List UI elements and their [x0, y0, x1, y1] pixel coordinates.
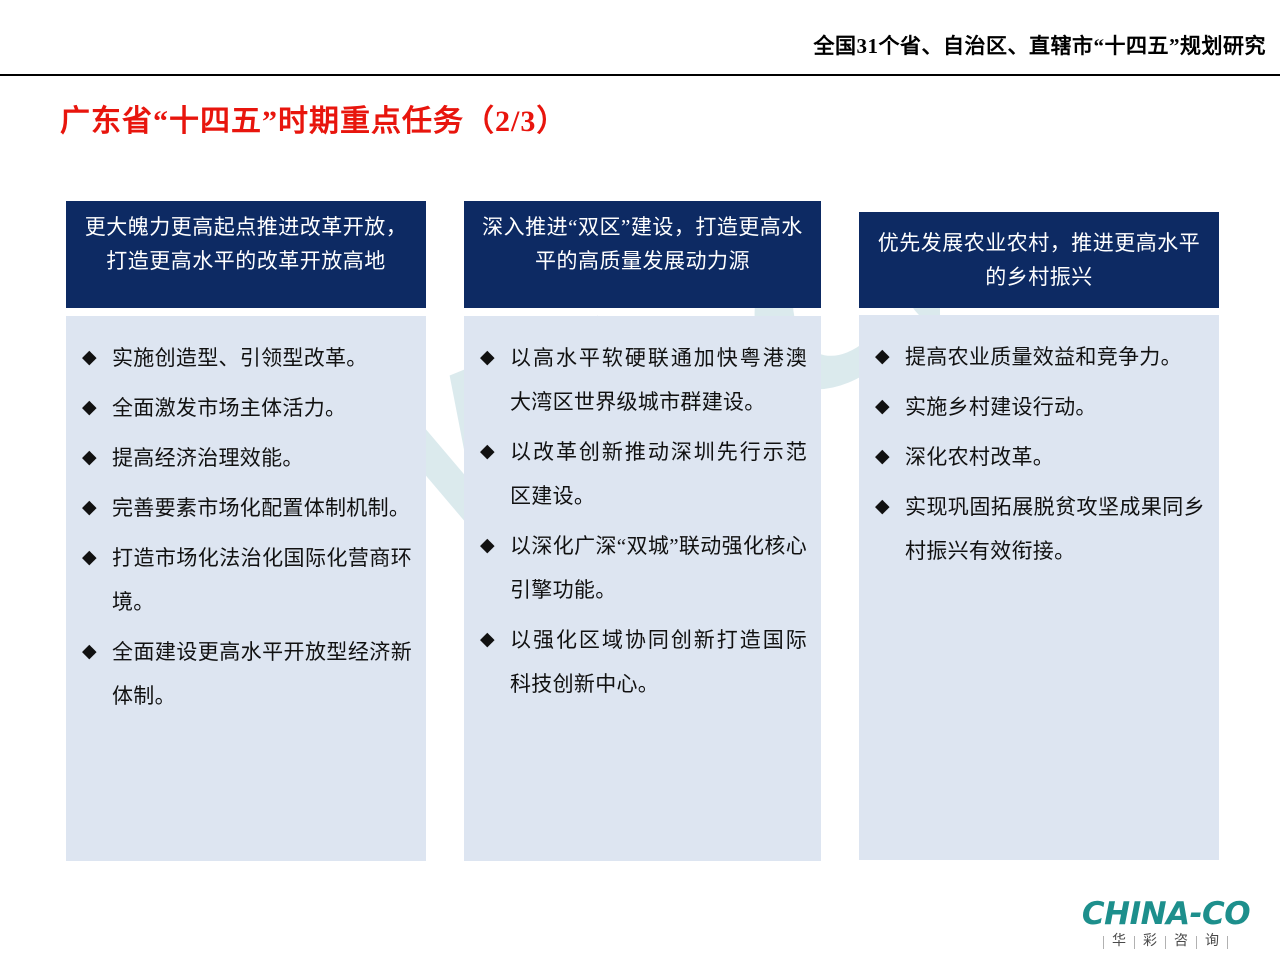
task-card-2-header: 深入推进“双区”建设，打造更高水平的高质量发展动力源 [464, 201, 821, 308]
task-card-3-header: 优先发展农业农村，推进更高水平的乡村振兴 [859, 212, 1219, 308]
logo-separator: | [1191, 933, 1203, 951]
task-card-1-header: 更大魄力更高起点推进改革开放，打造更高水平的改革开放高地 [66, 201, 426, 308]
list-item-label: 实施乡村建设行动。 [905, 385, 1205, 429]
diamond-bullet-icon: ◆ [80, 536, 112, 580]
page-header: 全国31个省、自治区、直辖市“十四五”规划研究 [0, 0, 1280, 76]
header-title: 全国31个省、自治区、直辖市“十四五”规划研究 [814, 30, 1267, 60]
logo-separator: | [1098, 933, 1110, 951]
diamond-bullet-icon: ◆ [80, 436, 112, 480]
list-item-label: 深化农村改革。 [905, 435, 1205, 479]
logo-separator: | [1129, 933, 1141, 951]
list-item: ◆ 实施乡村建设行动。 [873, 385, 1205, 429]
list-item-label: 全面激发市场主体活力。 [112, 386, 412, 430]
task-card-2: 深入推进“双区”建设，打造更高水平的高质量发展动力源 ◆ 以高水平软硬联通加快粤… [464, 201, 821, 861]
diamond-bullet-icon: ◆ [873, 485, 905, 529]
diamond-bullet-icon: ◆ [873, 435, 905, 479]
list-item: ◆ 深化农村改革。 [873, 435, 1205, 479]
china-co-logo: CHINA-CO | 华 | 彩 | 咨 | 询 | [1068, 898, 1264, 956]
logo-sub-char-3: 咨 [1172, 933, 1191, 951]
diamond-bullet-icon: ◆ [873, 335, 905, 379]
list-item-label: 以深化广深“双城”联动强化核心引擎功能。 [510, 524, 807, 612]
list-item: ◆ 实施创造型、引领型改革。 [80, 336, 412, 380]
list-item-label: 以改革创新推动深圳先行示范区建设。 [510, 430, 807, 518]
list-item: ◆ 全面激发市场主体活力。 [80, 386, 412, 430]
logo-separator: | [1160, 933, 1172, 951]
list-item: ◆ 完善要素市场化配置体制机制。 [80, 486, 412, 530]
diamond-bullet-icon: ◆ [80, 336, 112, 380]
list-item: ◆ 实现巩固拓展脱贫攻坚成果同乡村振兴有效衔接。 [873, 485, 1205, 573]
list-item-label: 完善要素市场化配置体制机制。 [112, 486, 412, 530]
logo-sub-char-4: 询 [1203, 933, 1222, 951]
task-card-1: 更大魄力更高起点推进改革开放，打造更高水平的改革开放高地 ◆ 实施创造型、引领型… [66, 201, 426, 861]
logo-separator: | [1222, 933, 1234, 951]
task-card-1-body: ◆ 实施创造型、引领型改革。 ◆ 全面激发市场主体活力。 ◆ 提高经济治理效能。… [66, 316, 426, 861]
list-item-label: 以强化区域协同创新打造国际科技创新中心。 [510, 618, 807, 706]
diamond-bullet-icon: ◆ [80, 630, 112, 674]
list-item: ◆ 以强化区域协同创新打造国际科技创新中心。 [478, 618, 807, 706]
page-title: 广东省“十四五”时期重点任务（2/3） [60, 96, 567, 140]
task-card-2-body: ◆ 以高水平软硬联通加快粤港澳大湾区世界级城市群建设。 ◆ 以改革创新推动深圳先… [464, 316, 821, 861]
list-item: ◆ 提高农业质量效益和竞争力。 [873, 335, 1205, 379]
list-item-label: 以高水平软硬联通加快粤港澳大湾区世界级城市群建设。 [510, 336, 807, 424]
list-item-label: 打造市场化法治化国际化营商环境。 [112, 536, 412, 624]
list-item: ◆ 打造市场化法治化国际化营商环境。 [80, 536, 412, 624]
diamond-bullet-icon: ◆ [478, 618, 510, 662]
list-item: ◆ 以高水平软硬联通加快粤港澳大湾区世界级城市群建设。 [478, 336, 807, 424]
task-card-3-body: ◆ 提高农业质量效益和竞争力。 ◆ 实施乡村建设行动。 ◆ 深化农村改革。 ◆ … [859, 315, 1219, 860]
logo-wordmark: CHINA-CO [1068, 898, 1264, 930]
task-card-3: 优先发展农业农村，推进更高水平的乡村振兴 ◆ 提高农业质量效益和竞争力。 ◆ 实… [859, 212, 1219, 860]
list-item-label: 提高农业质量效益和竞争力。 [905, 335, 1205, 379]
list-item-label: 全面建设更高水平开放型经济新体制。 [112, 630, 412, 718]
list-item-label: 实施创造型、引领型改革。 [112, 336, 412, 380]
list-item-label: 实现巩固拓展脱贫攻坚成果同乡村振兴有效衔接。 [905, 485, 1205, 573]
list-item: ◆ 提高经济治理效能。 [80, 436, 412, 480]
diamond-bullet-icon: ◆ [478, 524, 510, 568]
diamond-bullet-icon: ◆ [478, 336, 510, 380]
diamond-bullet-icon: ◆ [80, 386, 112, 430]
list-item: ◆ 以深化广深“双城”联动强化核心引擎功能。 [478, 524, 807, 612]
diamond-bullet-icon: ◆ [80, 486, 112, 530]
diamond-bullet-icon: ◆ [478, 430, 510, 474]
logo-subtitle: | 华 | 彩 | 咨 | 询 | [1068, 933, 1264, 951]
list-item: ◆ 以改革创新推动深圳先行示范区建设。 [478, 430, 807, 518]
list-item-label: 提高经济治理效能。 [112, 436, 412, 480]
header-divider [0, 74, 1280, 76]
logo-sub-char-1: 华 [1110, 933, 1129, 951]
diamond-bullet-icon: ◆ [873, 385, 905, 429]
logo-sub-char-2: 彩 [1141, 933, 1160, 951]
list-item: ◆ 全面建设更高水平开放型经济新体制。 [80, 630, 412, 718]
